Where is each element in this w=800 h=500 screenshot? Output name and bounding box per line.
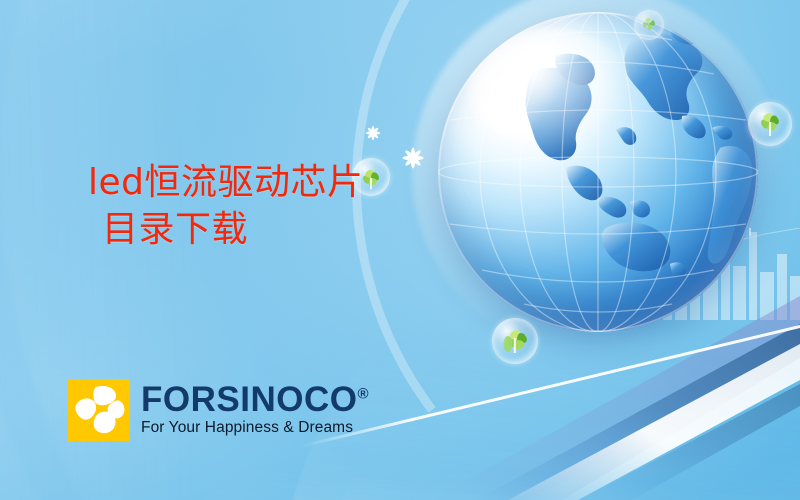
brand-tagline: For Your Happiness & Dreams (141, 419, 369, 437)
brand-name-text: FORSINOCO (141, 380, 357, 419)
brand-name: FORSINOCO® (141, 383, 369, 417)
headline-line-2: 目录下载 (102, 207, 518, 254)
pinwheel-icon (634, 10, 664, 40)
pinwheel-flower-icon (68, 379, 130, 441)
bubble-pinwheel-icon (492, 318, 538, 364)
daisy-flower-icon (362, 122, 384, 144)
page-title: led恒流驱动芯片 目录下载 (88, 160, 518, 254)
pinwheel-icon (492, 318, 538, 364)
registered-trademark-icon: ® (357, 385, 369, 402)
bubble-pinwheel-icon (634, 10, 664, 40)
pinwheel-icon (748, 102, 792, 146)
brand-logo[interactable]: FORSINOCO® For Your Happiness & Dreams (68, 379, 369, 441)
bubble-pinwheel-icon (748, 102, 792, 146)
diagonal-stripes (280, 240, 800, 500)
headline-line-1: led恒流驱动芯片 (88, 160, 518, 207)
banner-canvas: led恒流驱动芯片 目录下载 FORSINOCO® For Your Happi… (0, 0, 800, 500)
